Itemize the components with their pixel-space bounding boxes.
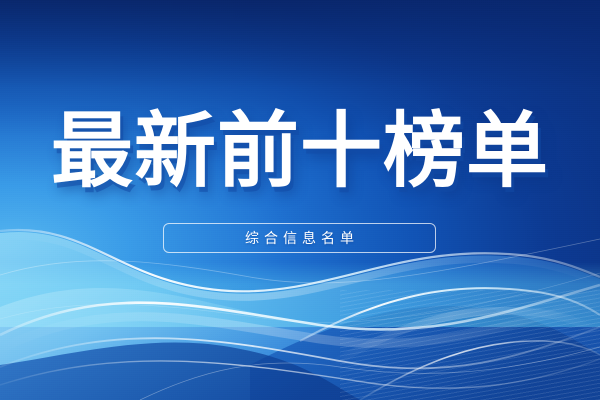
subtitle-text: 综合信息名单 [240, 228, 359, 248]
promo-banner: 最新前十榜单 综合信息名单 [0, 0, 600, 400]
subtitle-badge: 综合信息名单 [163, 223, 436, 253]
banner-title: 最新前十榜单 [0, 108, 600, 196]
